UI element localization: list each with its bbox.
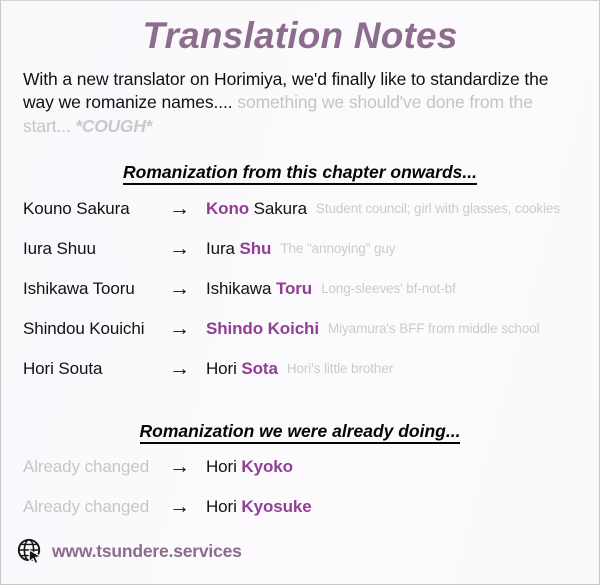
- new-name-plain: Ishikawa: [206, 279, 276, 298]
- new-name-highlight: Kono: [206, 199, 249, 218]
- new-name-tail: Sakura: [249, 199, 307, 218]
- new-name: Kono Sakura: [206, 199, 307, 219]
- table-row: Ishikawa Tooru → Ishikawa Toru Long-slee…: [23, 277, 599, 317]
- romanization-changes-list: Kouno Sakura → Kono Sakura Student counc…: [1, 183, 599, 397]
- section-heading-existing-romanization: Romanization we were already doing...: [1, 397, 599, 442]
- table-row: Already changed → Hori Kyoko: [23, 455, 599, 495]
- new-name: Iura Shu: [206, 239, 271, 259]
- intro-cough-text: *COUGH*: [71, 116, 152, 136]
- character-note: Student council; girl with glasses, cook…: [307, 201, 560, 216]
- new-name: Hori Sota: [206, 359, 278, 379]
- section-heading-existing-romanization-label: Romanization we were already doing...: [140, 421, 461, 444]
- old-name: Iura Shuu: [23, 239, 169, 259]
- character-note: Miyamura's BFF from middle school: [319, 321, 540, 336]
- globe-cursor-icon: [17, 538, 43, 564]
- character-note: The "annoying" guy: [271, 241, 395, 256]
- table-row: Hori Souta → Hori Sota Hori's little bro…: [23, 357, 599, 397]
- character-note: Long-sleeves' bf-not-bf: [312, 281, 456, 296]
- old-name: Already changed: [23, 497, 169, 517]
- new-name-highlight: Toru: [276, 279, 312, 298]
- new-name-highlight: Shu: [240, 239, 272, 258]
- new-name: Hori Kyosuke: [206, 497, 312, 517]
- intro-paragraph: With a new translator on Horimiya, we'd …: [1, 58, 599, 139]
- new-name-plain: Iura: [206, 239, 240, 258]
- old-name: Already changed: [23, 457, 169, 477]
- footer: www.tsundere.services: [17, 538, 242, 564]
- arrow-right-icon: →: [169, 358, 206, 379]
- arrow-right-icon: →: [169, 198, 206, 219]
- new-name-plain: Hori: [206, 457, 241, 476]
- arrow-right-icon: →: [169, 456, 206, 477]
- arrow-right-icon: →: [169, 238, 206, 259]
- new-name: Ishikawa Toru: [206, 279, 312, 299]
- section-heading-new-romanization: Romanization from this chapter onwards..…: [1, 139, 599, 183]
- new-name-plain: Hori: [206, 359, 241, 378]
- arrow-right-icon: →: [169, 496, 206, 517]
- page-title: Translation Notes: [1, 1, 599, 58]
- arrow-right-icon: →: [169, 278, 206, 299]
- existing-romanization-list: Already changed → Hori Kyoko Already cha…: [1, 442, 599, 535]
- footer-url-label: www.tsundere.services: [43, 541, 242, 562]
- new-name-plain: Hori: [206, 497, 241, 516]
- character-note: Hori's little brother: [278, 361, 393, 376]
- table-row: Already changed → Hori Kyosuke: [23, 495, 599, 535]
- old-name: Shindou Kouichi: [23, 319, 169, 339]
- old-name: Hori Souta: [23, 359, 169, 379]
- new-name-highlight: Kyoko: [241, 457, 292, 476]
- section-heading-new-romanization-label: Romanization from this chapter onwards..…: [123, 162, 477, 185]
- arrow-right-icon: →: [169, 318, 206, 339]
- table-row: Shindou Kouichi → Shindo Koichi Miyamura…: [23, 317, 599, 357]
- new-name-highlight: Kyosuke: [241, 497, 311, 516]
- old-name: Kouno Sakura: [23, 199, 169, 219]
- new-name: Hori Kyoko: [206, 457, 293, 477]
- table-row: Iura Shuu → Iura Shu The "annoying" guy: [23, 237, 599, 277]
- translation-notes-card: Translation Notes With a new translator …: [0, 0, 600, 585]
- table-row: Kouno Sakura → Kono Sakura Student counc…: [23, 197, 599, 237]
- new-name: Shindo Koichi: [206, 319, 319, 339]
- new-name-highlight: Shindo Koichi: [206, 319, 319, 338]
- new-name-highlight: Sota: [241, 359, 277, 378]
- old-name: Ishikawa Tooru: [23, 279, 169, 299]
